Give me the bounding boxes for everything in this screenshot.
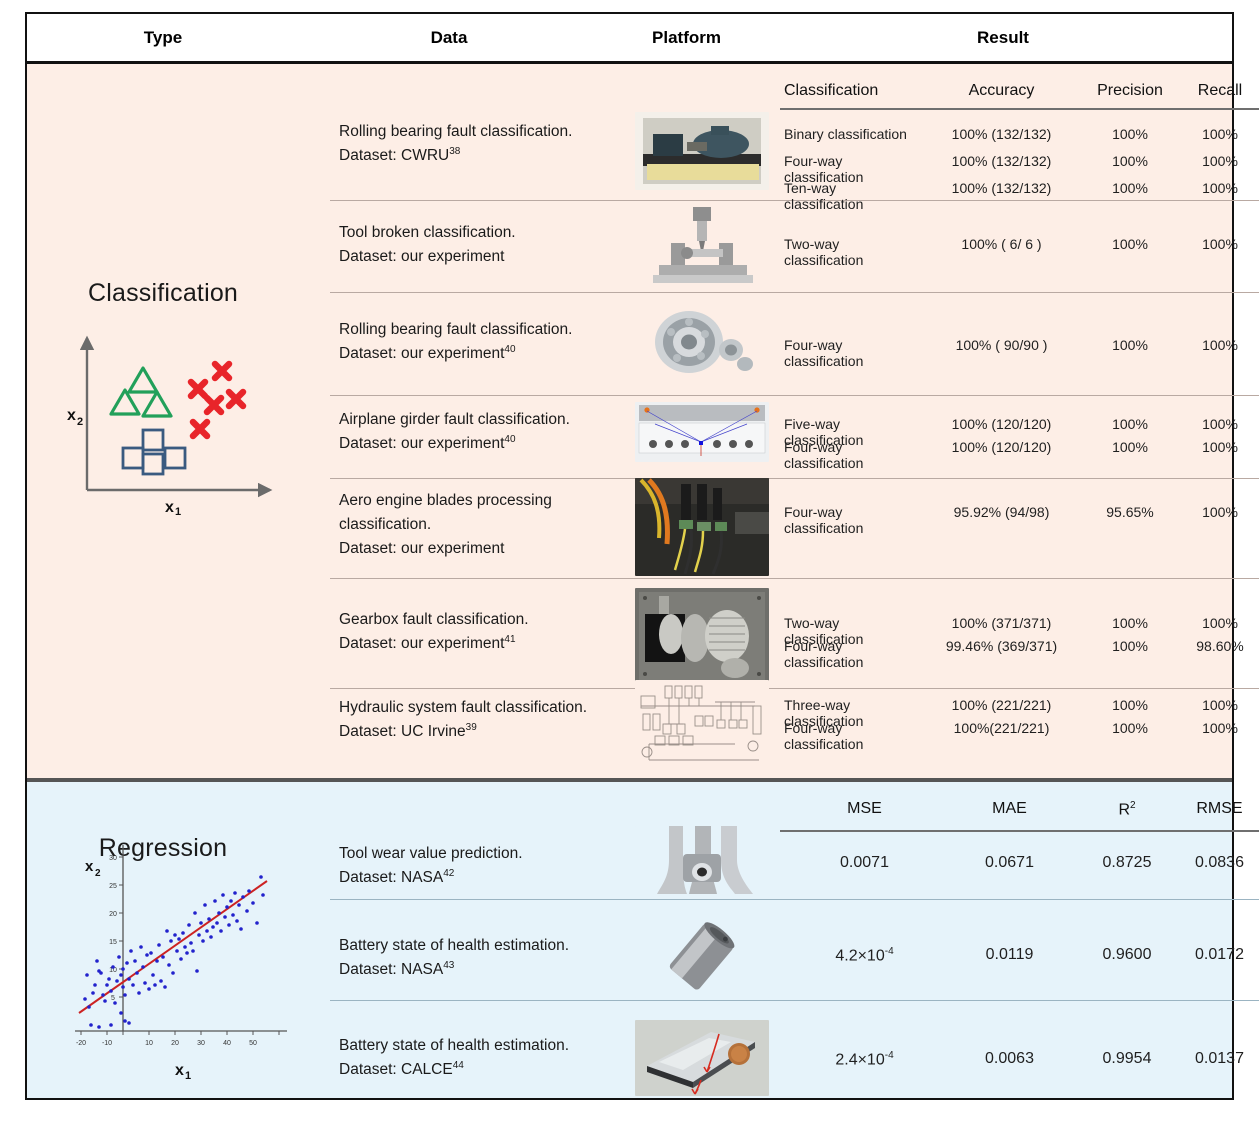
classification-scatter-figure: x 2 x 1: [65, 330, 280, 515]
metric-mse: 0.0071: [787, 854, 942, 872]
data-cell: Rolling bearing fault classification. Da…: [339, 120, 597, 168]
data-line-2: Dataset: our experiment: [339, 635, 504, 652]
result-precision: 95.65%: [1079, 504, 1181, 520]
platform-image-gearbox-internal: [635, 588, 769, 684]
metric-mse: 2.4×10-4: [787, 1050, 942, 1069]
row-divider: [330, 578, 1259, 579]
platform-image-aero-engine-wiring: [635, 478, 769, 576]
data-reference: 43: [443, 960, 454, 971]
data-cell: Tool wear value prediction. Dataset: NAS…: [339, 842, 597, 890]
result-header-r2: R2: [1077, 800, 1177, 819]
result-classification: Two-way classification: [784, 236, 914, 268]
result-header-underline: [780, 108, 1259, 110]
data-line-1: Battery state of health estimation.: [339, 1037, 569, 1054]
result-recall: 100%: [1181, 439, 1259, 455]
data-reference: 41: [504, 634, 515, 645]
metric-mse: 4.2×10-4: [787, 946, 942, 965]
svg-text:15: 15: [109, 939, 117, 946]
data-cell: Hydraulic system fault classification. D…: [339, 696, 597, 744]
data-line-2: Dataset: NASA: [339, 869, 443, 886]
svg-text:2: 2: [95, 868, 101, 879]
table-header-row: Type Data Platform Result: [27, 14, 1232, 61]
metric-mae: 0.0671: [942, 854, 1077, 872]
platform-image-milling-tool-machine: [635, 205, 769, 289]
metric-r2: 0.9954: [1077, 1050, 1177, 1068]
result-recall: 100%: [1181, 615, 1259, 631]
svg-text:20: 20: [171, 1040, 179, 1047]
result-accuracy: 99.46% (369/371): [924, 638, 1079, 654]
metric-mae: 0.0063: [942, 1050, 1077, 1068]
data-cell: Tool broken classification. Dataset: our…: [339, 221, 597, 269]
svg-text:10: 10: [145, 1040, 153, 1047]
result-precision: 100%: [1079, 180, 1181, 196]
result-recall: 100%: [1181, 416, 1259, 432]
metric-rmse: 0.0172: [1177, 946, 1259, 964]
regression-scatter-figure: 302520 15105 -20-10 102030 4050: [63, 835, 291, 1083]
result-header-accuracy: Accuracy: [924, 82, 1079, 100]
platform-image-cylindrical-battery: [635, 914, 769, 998]
data-reference: 42: [443, 868, 454, 879]
svg-text:5: 5: [111, 995, 115, 1002]
data-reference: 39: [466, 722, 477, 733]
result-accuracy: 100% (120/120): [924, 416, 1079, 432]
result-precision: 100%: [1079, 416, 1181, 432]
data-cell: Battery state of health estimation. Data…: [339, 934, 597, 982]
metric-mae: 0.0119: [942, 946, 1077, 964]
svg-text:50: 50: [249, 1040, 257, 1047]
data-cell: Airplane girder fault classification. Da…: [339, 408, 597, 456]
metric-rmse: 0.0137: [1177, 1050, 1259, 1068]
data-cell: Gearbox fault classification. Dataset: o…: [339, 608, 597, 656]
row-divider: [330, 688, 1259, 689]
svg-text:x: x: [175, 1062, 184, 1079]
platform-image-milling-cutter: [635, 826, 769, 898]
result-precision: 100%: [1079, 615, 1181, 631]
data-line-1: Hydraulic system fault classification.: [339, 699, 587, 716]
svg-text:2: 2: [77, 416, 83, 428]
figure-root: Type Data Platform Result Classification: [0, 0, 1259, 1135]
data-cell: Battery state of health estimation. Data…: [339, 1034, 597, 1082]
row-divider: [330, 395, 1259, 396]
result-accuracy: 100% (371/371): [924, 615, 1079, 631]
row-divider: [330, 292, 1259, 293]
regression-band: Regression 302520 15105 -20-10 102030 40…: [27, 782, 1232, 1098]
data-cell: Rolling bearing fault classification. Da…: [339, 318, 597, 366]
data-line-1: Tool broken classification.: [339, 224, 516, 241]
data-line-1: Rolling bearing fault classification.: [339, 321, 572, 338]
svg-text:20: 20: [109, 911, 117, 918]
result-classification: Ten-way classification: [784, 180, 914, 212]
metric-r2: 0.9600: [1077, 946, 1177, 964]
data-line-2: Dataset: our experiment: [339, 540, 504, 557]
result-classification: Four-way classification: [784, 720, 914, 752]
result-accuracy: 100% (132/132): [924, 153, 1079, 169]
data-line-2: Dataset: our experiment: [339, 345, 504, 362]
row-divider: [330, 478, 1259, 479]
svg-text:1: 1: [185, 1070, 191, 1082]
result-recall: 100%: [1181, 697, 1259, 713]
result-precision: 100%: [1079, 126, 1181, 142]
metric-r2: 0.8725: [1077, 854, 1177, 872]
result-header-precision: Precision: [1079, 82, 1181, 100]
svg-text:-20: -20: [76, 1040, 86, 1047]
data-line-2: Dataset: CALCE: [339, 1061, 453, 1078]
platform-image-hydraulic-schematic: [635, 680, 769, 780]
svg-text:25: 25: [109, 883, 117, 890]
result-precision: 100%: [1079, 337, 1181, 353]
result-precision: 100%: [1079, 236, 1181, 252]
data-line-2: Dataset: CWRU: [339, 147, 449, 164]
svg-text:1: 1: [175, 506, 181, 515]
metric-rmse: 0.0836: [1177, 854, 1259, 872]
header-platform: Platform: [599, 14, 774, 61]
svg-text:30: 30: [197, 1040, 205, 1047]
result-precision: 100%: [1079, 153, 1181, 169]
result-classification: Four-way classification: [784, 638, 914, 670]
svg-text:30: 30: [109, 855, 117, 862]
result-accuracy: 100% (132/132): [924, 126, 1079, 142]
header-data: Data: [299, 14, 599, 61]
result-header-mse: MSE: [787, 800, 942, 818]
result-header-rmse: RMSE: [1177, 800, 1259, 818]
data-cell: Aero engine blades processing classifica…: [339, 489, 597, 561]
result-classification: Four-way classification: [784, 337, 914, 369]
data-line-1: Gearbox fault classification.: [339, 611, 529, 628]
result-classification: Four-way classification: [784, 504, 914, 536]
result-classification: Binary classification: [784, 126, 914, 142]
row-divider: [330, 1000, 1259, 1001]
svg-text:x: x: [165, 499, 174, 515]
result-accuracy: 100% (132/132): [924, 180, 1079, 196]
platform-image-girder-schematic: [635, 402, 769, 462]
result-accuracy: 100% (120/120): [924, 439, 1079, 455]
result-precision: 100%: [1079, 697, 1181, 713]
result-classification: Four-way classification: [784, 439, 914, 471]
data-line-2: Dataset: our experiment: [339, 435, 504, 452]
result-recall: 100%: [1181, 126, 1259, 142]
result-accuracy: 100% ( 6/ 6 ): [924, 236, 1079, 252]
header-result: Result: [774, 14, 1232, 61]
data-line-1: Airplane girder fault classification.: [339, 411, 570, 428]
classification-title: Classification: [27, 279, 299, 308]
classification-band: Classification: [27, 64, 1232, 780]
result-accuracy: 100% (221/221): [924, 697, 1079, 713]
result-recall: 100%: [1181, 504, 1259, 520]
data-reference: 40: [504, 434, 515, 445]
svg-text:40: 40: [223, 1040, 231, 1047]
result-precision: 100%: [1079, 720, 1181, 736]
result-recall: 100%: [1181, 720, 1259, 736]
result-header-underline: [780, 830, 1259, 832]
result-recall: 100%: [1181, 337, 1259, 353]
result-recall: 98.60%: [1181, 638, 1259, 654]
data-line-1b: classification.: [339, 516, 431, 533]
platform-image-pouch-battery: [635, 1020, 769, 1096]
result-accuracy: 95.92% (94/98): [924, 504, 1079, 520]
result-precision: 100%: [1079, 439, 1181, 455]
data-line-2: Dataset: our experiment: [339, 248, 504, 265]
header-type: Type: [27, 14, 299, 61]
data-reference: 40: [504, 344, 515, 355]
data-line-1: Tool wear value prediction.: [339, 845, 523, 862]
result-recall: 100%: [1181, 180, 1259, 196]
result-recall: 100%: [1181, 153, 1259, 169]
data-line-2: Dataset: UC Irvine: [339, 723, 466, 740]
data-reference: 44: [453, 1060, 464, 1071]
data-line-1: Aero engine blades processing: [339, 492, 552, 509]
svg-text:x: x: [85, 858, 94, 875]
result-header-mae: MAE: [942, 800, 1077, 818]
data-line-1: Rolling bearing fault classification.: [339, 123, 572, 140]
row-divider: [330, 899, 1259, 900]
platform-image-bearing-assembly: [635, 302, 769, 388]
svg-text:-10: -10: [102, 1040, 112, 1047]
result-accuracy: 100%(221/221): [924, 720, 1079, 736]
result-recall: 100%: [1181, 236, 1259, 252]
result-precision: 100%: [1079, 638, 1181, 654]
data-line-1: Battery state of health estimation.: [339, 937, 569, 954]
svg-text:x: x: [67, 407, 76, 424]
result-header-classification: Classification: [784, 82, 914, 100]
result-accuracy: 100% ( 90/90 ): [924, 337, 1079, 353]
data-reference: 38: [449, 146, 460, 157]
data-line-2: Dataset: NASA: [339, 961, 443, 978]
platform-image-bearing-test-rig: [635, 112, 769, 190]
result-header-recall: Recall: [1181, 82, 1259, 100]
